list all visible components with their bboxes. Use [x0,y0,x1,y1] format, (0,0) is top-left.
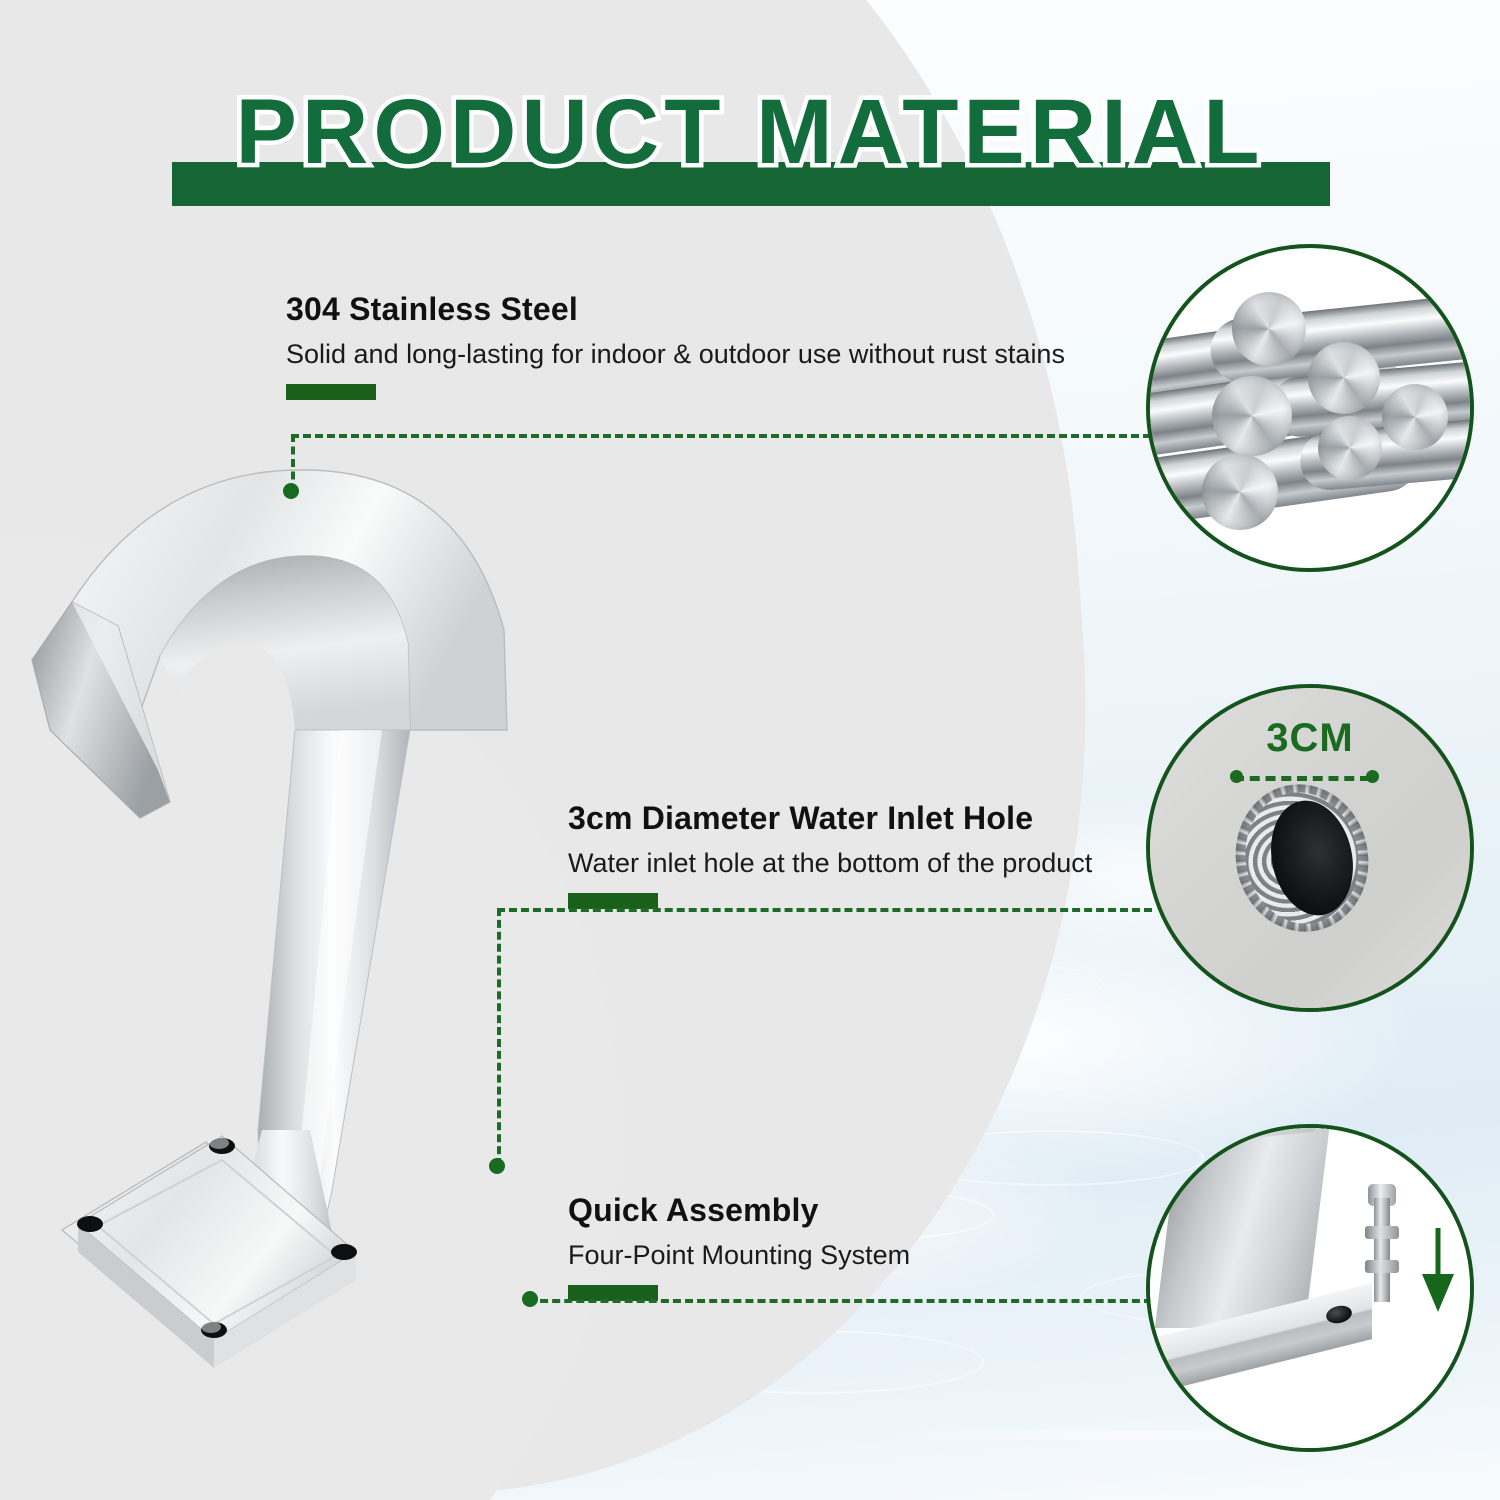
connector-dot-base-plate [522,1291,538,1307]
feature-block-quick-assembly: Quick Assembly Four-Point Mounting Syste… [568,1192,910,1301]
bolt-shaft-icon [1374,1198,1390,1302]
mounting-hole [331,1244,357,1260]
feature-subtitle: Four-Point Mounting System [568,1240,910,1271]
page-title: PRODUCT MATERIAL [0,86,1500,178]
down-arrow-icon [1412,1228,1472,1314]
product-image [10,430,570,1420]
feature-title: 3cm Diameter Water Inlet Hole [568,800,1092,837]
feature-accent-rule [286,384,376,400]
feature-title: Quick Assembly [568,1192,910,1229]
feature-title: 304 Stainless Steel [286,291,1065,328]
callout-circle-quick-assembly [1146,1124,1474,1452]
feature-block-stainless-steel: 304 Stainless Steel Solid and long-lasti… [286,291,1065,400]
infographic-canvas: PRODUCT MATERIAL [0,0,1500,1500]
dimension-dot-left [1230,770,1243,783]
callout-circle-steel-rods [1146,244,1474,572]
dimension-dot-right [1366,770,1379,783]
connector-line-feature-3-right [528,1299,1152,1303]
mounting-hole [77,1216,103,1232]
feature-subtitle: Water inlet hole at the bottom of the pr… [568,848,1092,879]
base-post-icon [1155,1124,1331,1328]
dimension-dashed-line [1234,776,1370,781]
steel-rods-icon [1150,248,1470,568]
bolt-washer-icon [1365,1226,1399,1239]
connector-line-feature-2-down [497,908,501,1166]
connector-line-feature-2-right [497,908,1152,912]
connector-line-feature-1-right [291,434,1151,438]
feature-subtitle: Solid and long-lasting for indoor & outd… [286,339,1065,370]
page-title-block: PRODUCT MATERIAL [0,86,1500,226]
feature-accent-rule [568,893,658,909]
callout-circle-water-inlet: 3CM [1146,684,1474,1012]
feature-block-water-inlet: 3cm Diameter Water Inlet Hole Water inle… [568,800,1092,909]
dimension-label-3cm: 3CM [1150,716,1470,761]
connector-dot-product-top [283,483,299,499]
connector-dot-inlet [489,1158,505,1174]
bolt-nut-icon [1365,1260,1399,1273]
